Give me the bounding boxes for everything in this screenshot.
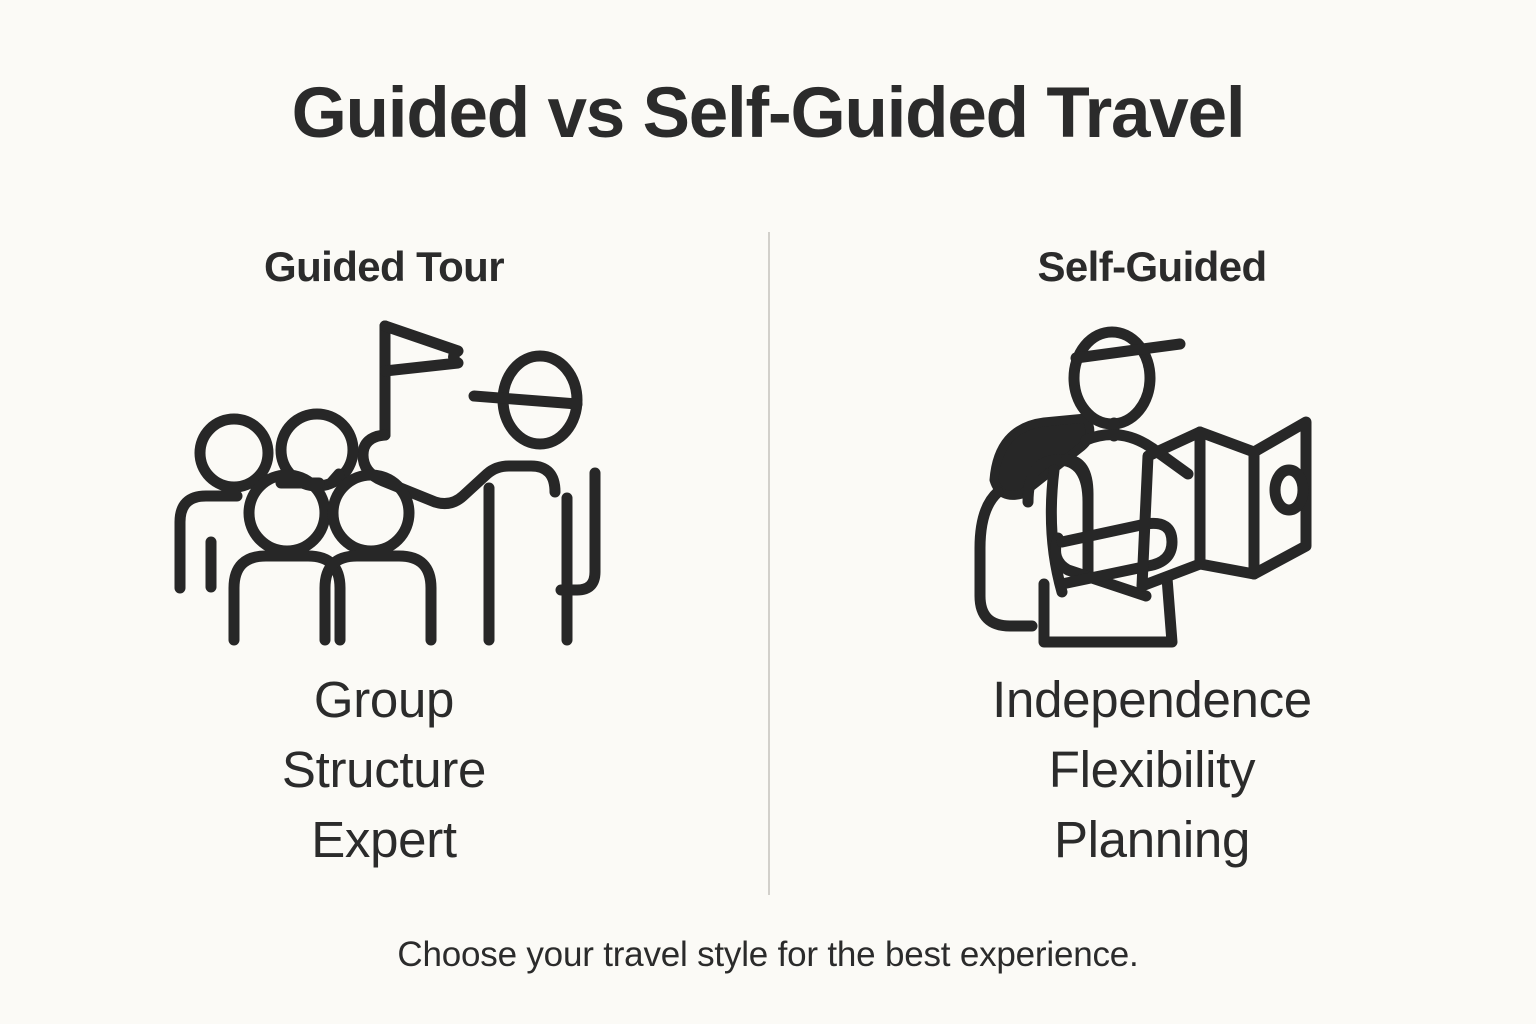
traveler-with-backpack-reading-map-icon [917,310,1387,655]
feature-item: Group [314,665,454,735]
feature-item: Flexibility [1049,735,1255,805]
footer-caption: Choose your travel style for the best ex… [0,934,1536,976]
comparison-columns: Guided Tour [0,228,1536,898]
feature-item: Planning [1054,805,1250,875]
page-title: Guided vs Self-Guided Travel [0,78,1536,149]
column-heading-self-guided: Self-Guided [1037,246,1266,288]
feature-list-guided-tour: Group Structure Expert [282,665,486,875]
infographic-page: Guided vs Self-Guided Travel Guided Tour [0,0,1536,1024]
column-heading-guided-tour: Guided Tour [264,246,504,288]
column-self-guided: Self-Guided [768,228,1536,898]
column-guided-tour: Guided Tour [0,228,768,898]
feature-item: Independence [992,665,1312,735]
feature-item: Expert [311,805,457,875]
tour-guide-with-flag-and-group-icon [149,310,619,655]
feature-list-self-guided: Independence Flexibility Planning [992,665,1312,875]
feature-item: Structure [282,735,486,805]
